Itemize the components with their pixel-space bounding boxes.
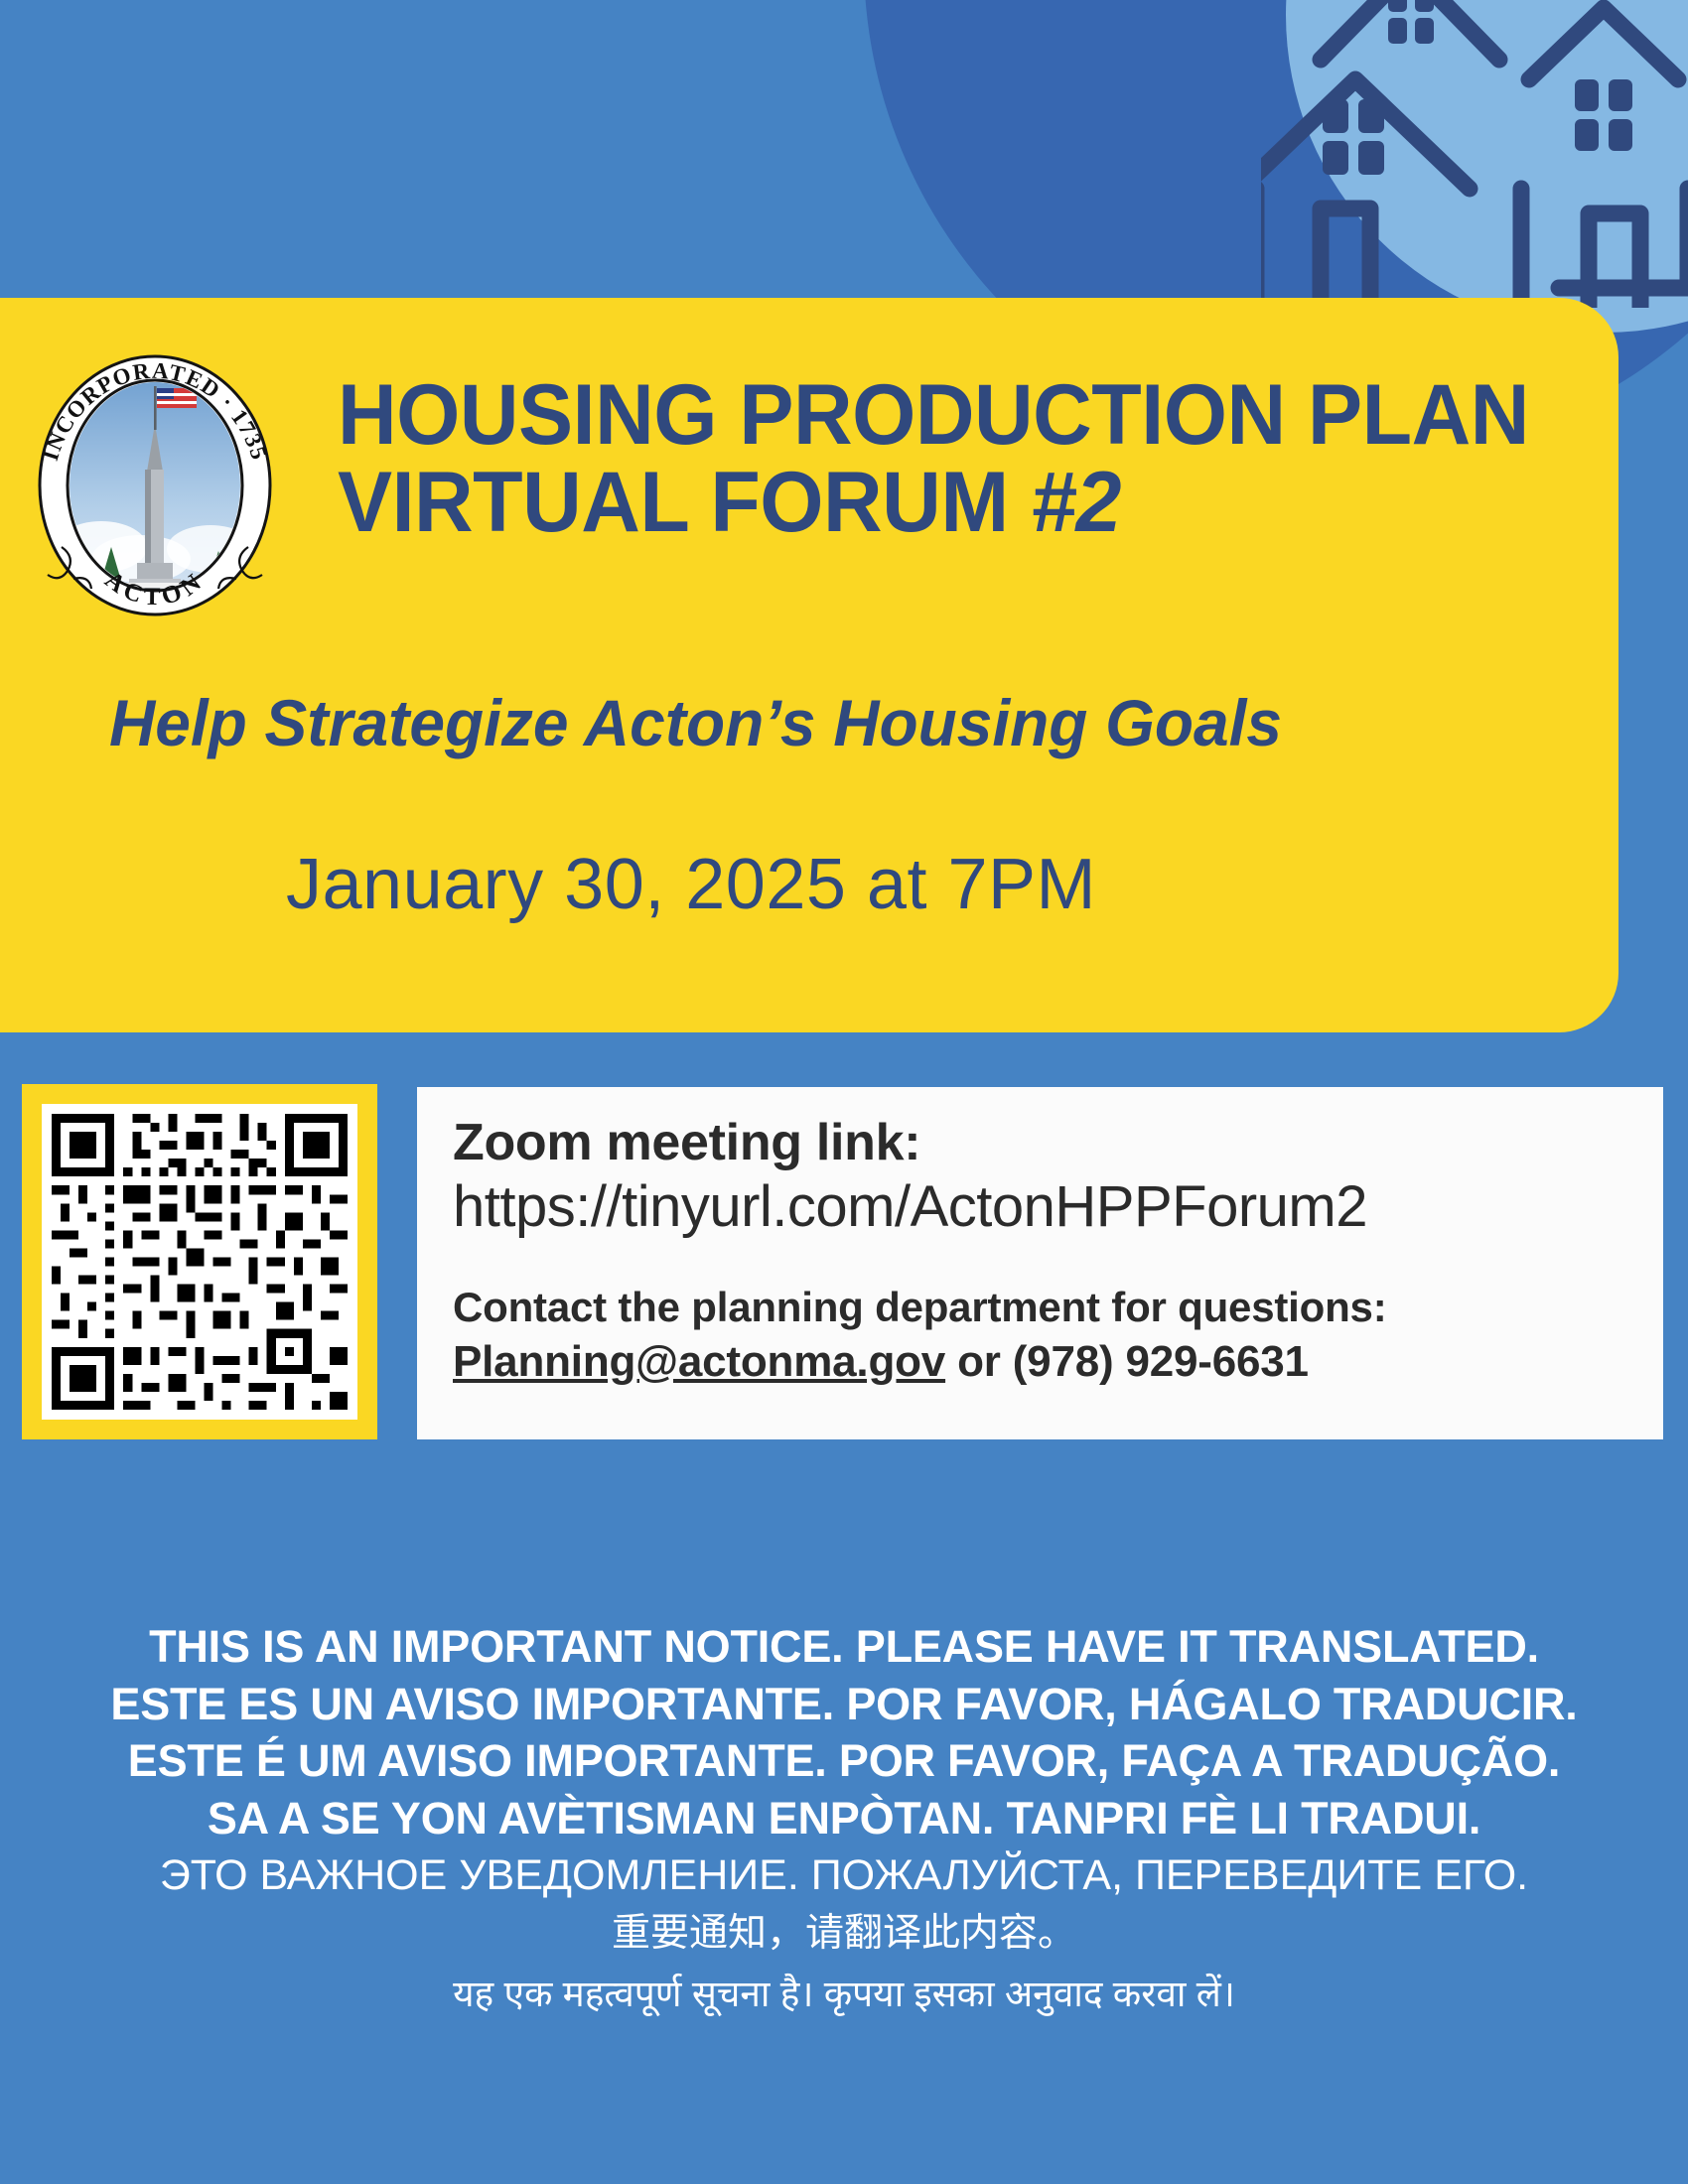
page-title: HOUSING PRODUCTION PLAN VIRTUAL FORUM #2 (338, 372, 1618, 546)
qr-code-frame (22, 1084, 377, 1439)
subtitle: Help Strategize Acton’s Housing Goals (109, 685, 1535, 760)
notice-line-ht: SA A SE YON AVÈTISMAN ENPÒTAN. TANPRI FÈ… (0, 1790, 1688, 1847)
notice-line-hi: यह एक महत्वपूर्ण सूचना है। कृपया इसका अन… (0, 1965, 1688, 2023)
contact-details: Planning@actonma.gov or (978) 929-6631 (453, 1336, 1627, 1389)
qr-code-icon[interactable] (52, 1114, 348, 1410)
notice-line-zh: 重要通知，请翻译此内容。 (0, 1904, 1688, 1964)
title-line-1: HOUSING PRODUCTION PLAN (338, 372, 1567, 460)
acton-town-seal: INCORPORATED · 1735 ACTON (22, 352, 288, 618)
zoom-link-label: Zoom meeting link: (453, 1115, 1627, 1171)
contact-phone: (978) 929-6631 (1013, 1337, 1309, 1386)
event-datetime: January 30, 2025 at 7PM (286, 844, 1096, 925)
zoom-meeting-link[interactable]: https://tinyurl.com/ActonHPPForum2 (453, 1173, 1627, 1241)
title-line-2: VIRTUAL FORUM #2 (338, 460, 1567, 547)
contact-prompt: Contact the planning department for ques… (453, 1282, 1627, 1332)
notice-line-en: THIS IS AN IMPORTANT NOTICE. PLEASE HAVE… (0, 1618, 1688, 1676)
meeting-info-box: Zoom meeting link: https://tinyurl.com/A… (417, 1087, 1663, 1439)
title-line-2-main: VIRTUAL FORUM (338, 455, 1031, 550)
contact-email-link[interactable]: Planning@actonma.gov (453, 1337, 945, 1386)
translation-notice: THIS IS AN IMPORTANT NOTICE. PLEASE HAVE… (0, 1618, 1688, 2023)
notice-line-pt: ESTE É UM AVISO IMPORTANTE. POR FAVOR, F… (0, 1732, 1688, 1790)
notice-line-ru: ЭТО ВАЖНОЕ УВЕДОМЛЕНИЕ. ПОЖАЛУЙСТА, ПЕРЕ… (0, 1846, 1688, 1904)
houses-icon (1261, 0, 1688, 308)
qr-code-inner (42, 1104, 357, 1420)
title-line-2-hash: #2 (1031, 455, 1121, 550)
contact-joiner: or (945, 1337, 1013, 1386)
notice-line-es: ESTE ES UN AVISO IMPORTANTE. POR FAVOR, … (0, 1676, 1688, 1733)
flyer-page: INCORPORATED · 1735 ACTON HOUSING PRODUC… (0, 0, 1688, 2184)
